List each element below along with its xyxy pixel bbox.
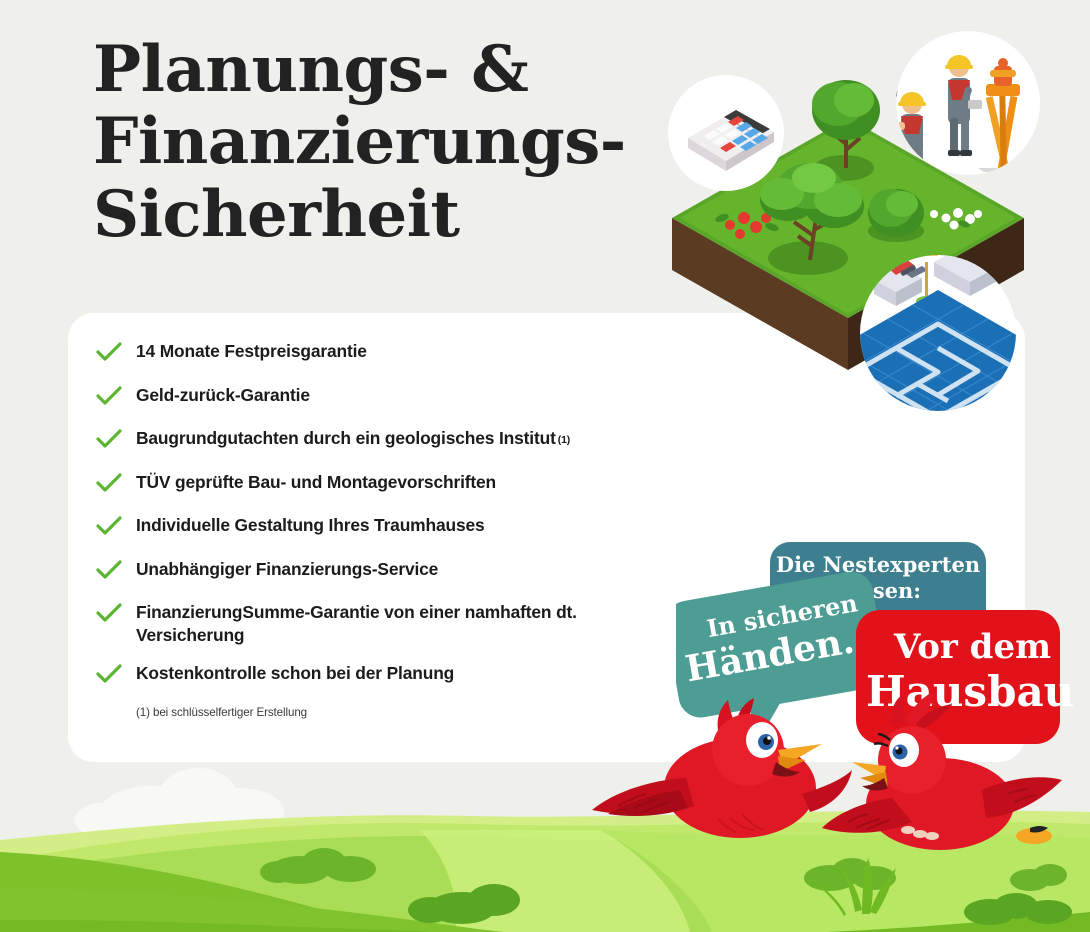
list-item-label: Baugrundgutachten durch ein geologisches…: [136, 427, 570, 450]
check-icon: [96, 560, 122, 582]
check-icon: [96, 386, 122, 408]
list-item: Individuelle Gestaltung Ihres Traumhause…: [96, 514, 676, 542]
calculator-badge: [668, 75, 784, 191]
list-item-label: Kostenkontrolle schon bei der Planung: [136, 662, 454, 685]
check-icon: [96, 342, 122, 364]
bird-right: [822, 694, 1062, 850]
list-item-label: TÜV geprüfte Bau- und Montagevorschrifte…: [136, 471, 496, 494]
footnote-marker: (1): [556, 434, 570, 446]
list-item: TÜV geprüfte Bau- und Montagevorschrifte…: [96, 471, 676, 499]
isometric-plot-illustration: [648, 18, 1090, 438]
list-item-label: FinanzierungSumme-Garantie von einer nam…: [136, 601, 641, 647]
page-title: Planungs- & Finanzierungs- Sicherheit: [93, 34, 703, 251]
title-line-3: Sicherheit: [93, 179, 703, 251]
bird-left: [592, 698, 852, 838]
list-item: Unabhängiger Finanzierungs-Service: [96, 558, 676, 586]
red-birds: [590, 694, 1090, 894]
bush-round: [868, 189, 924, 237]
list-item-label: Unabhängiger Finanzierungs-Service: [136, 558, 438, 581]
list-item: 14 Monate Festpreisgarantie: [96, 340, 676, 368]
title-line-2: Finanzierungs-: [93, 106, 703, 178]
list-item: Kostenkontrolle schon bei der Planung: [96, 662, 676, 690]
list-item: Baugrundgutachten durch ein geologisches…: [96, 427, 676, 455]
check-icon: [96, 473, 122, 495]
list-item-label: Geld-zurück-Garantie: [136, 384, 310, 407]
bubble-line-1: Die Nestexperten: [776, 552, 980, 577]
title-line-1: Planungs- &: [93, 34, 703, 106]
check-icon: [96, 429, 122, 451]
benefits-checklist: 14 Monate Festpreisgarantie Geld-zurück-…: [96, 340, 676, 719]
list-item-label: 14 Monate Festpreisgarantie: [136, 340, 367, 363]
tree-shadow: [768, 241, 848, 275]
list-item-label: Individuelle Gestaltung Ihres Traumhause…: [136, 514, 485, 537]
infographic-stage: Planungs- & Finanzierungs- Sicherheit: [0, 0, 1090, 932]
check-icon: [96, 603, 122, 625]
check-icon: [96, 664, 122, 686]
check-icon: [96, 516, 122, 538]
list-item: Geld-zurück-Garantie: [96, 384, 676, 412]
bubble-line-1: Vor dem: [893, 627, 1051, 667]
list-item: FinanzierungSumme-Garantie von einer nam…: [96, 601, 676, 647]
